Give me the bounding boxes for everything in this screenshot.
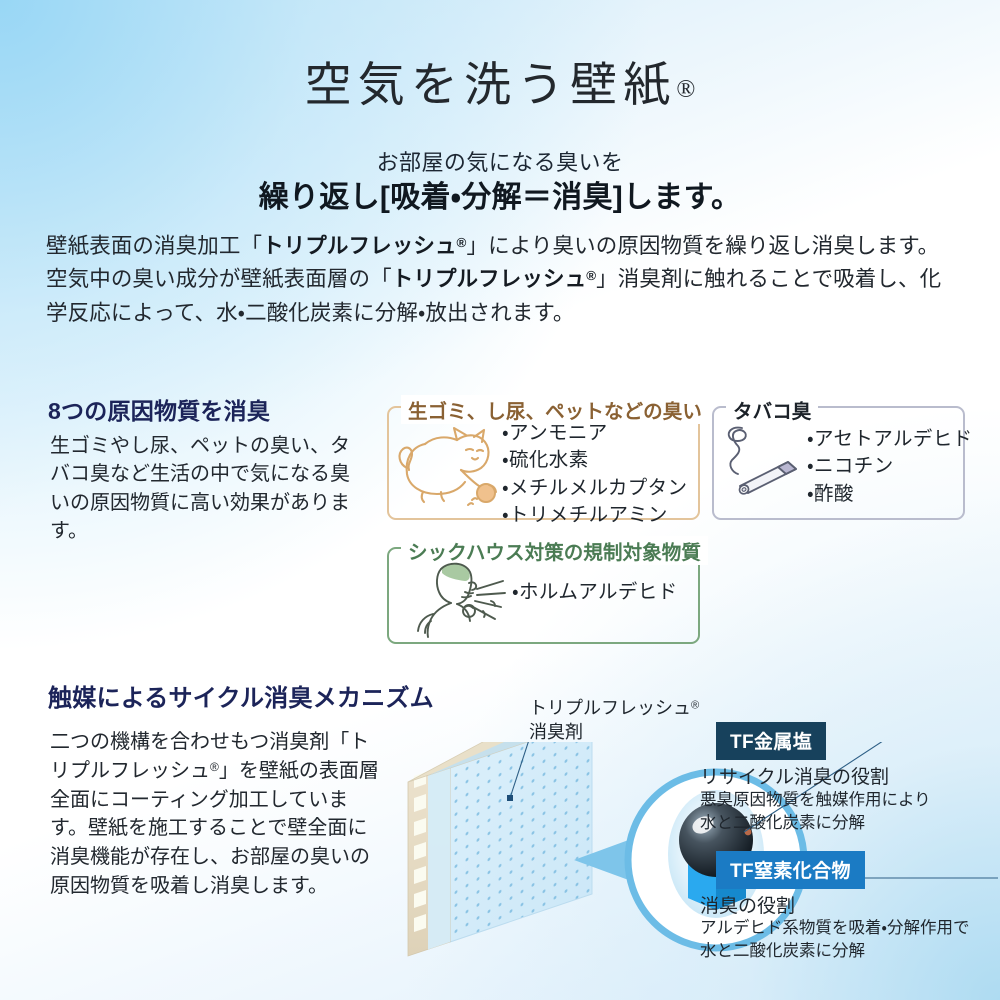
list-item: ・ホルムアルデヒド (512, 579, 678, 606)
mechanism-text-a: 二つの機構を合わせもつ消臭剤「 (50, 731, 349, 753)
page-title-text: 空気を洗う壁紙 (305, 60, 677, 112)
intro-brand-2-text: トリプルフレッシュ (392, 267, 586, 291)
sneezing-person-icon (407, 559, 511, 639)
callout-metal-line1: 悪臭原因物質を触媒作用により (700, 791, 931, 809)
intro-brand-2-reg: ® (586, 268, 596, 283)
list-item: ・アンモニア (502, 420, 687, 447)
odor-box-pet: 生ゴミ、し尿、ペットなどの臭い (387, 406, 700, 520)
intro-brand-2: トリプルフレッシュ® (392, 267, 596, 291)
callout-nitro-line1: アルデヒド系物質を吸着・分解作用で (700, 919, 969, 937)
intro-text-a: 壁紙表面の消臭加工「 (46, 234, 262, 258)
intro-brand-1-text: トリプルフレッシュ (262, 234, 456, 258)
registered-trademark-mark: ® (676, 76, 695, 103)
section-heading-eight-substances: 8つの原因物質を消臭 (48, 392, 270, 426)
mechanism-brand-reg: ® (210, 760, 219, 774)
callout-heading-nitrogen: 消臭の役割 (700, 891, 795, 918)
leader-dot-surface (507, 795, 513, 801)
diagram-label-reg: ® (691, 699, 699, 711)
section-heading-mechanism: 触媒によるサイクル消臭メカニズム (48, 678, 434, 713)
callout-body-metal-salt: 悪臭原因物質を触媒作用により 水と二酸化炭素に分解 (700, 789, 931, 836)
callout-nitro-line2: 水と二酸化炭素に分解 (700, 942, 865, 960)
intro-paragraph: 壁紙表面の消臭加工「トリプルフレッシュ®」により臭いの原因物質を繰り返し消臭しま… (46, 230, 954, 330)
callout-metal-line2: 水と二酸化炭素に分解 (700, 814, 865, 832)
section-body-mechanism: 二つの機構を合わせもつ消臭剤「トリプルフレッシュ®」を壁紙の表面層全面にコーティ… (50, 728, 380, 901)
odor-box-tobacco-items: ・アセトアルデヒド ・ニコチン ・酢酸 (807, 426, 973, 508)
cigarette-icon (720, 422, 808, 504)
list-item: ・硫化水素 (502, 447, 687, 474)
odor-box-tobacco: タバコ臭 ・アセトアルデヒド ・ニコチン ・酢酸 (712, 406, 965, 520)
callout-body-nitrogen: アルデヒド系物質を吸着・分解作用で 水と二酸化炭素に分解 (700, 917, 969, 964)
page-title: 空気を洗う壁紙® (0, 46, 1000, 115)
odor-box-tobacco-legend: タバコ臭 (726, 395, 818, 424)
odor-box-sickhouse-items: ・ホルムアルデヒド (512, 579, 678, 606)
list-item: ・メチルメルカプタン (502, 475, 687, 502)
list-item: ・ニコチン (807, 453, 973, 480)
intro-brand-1: トリプルフレッシュ® (262, 234, 466, 258)
callout-heading-metal-salt: リサイクル消臭の役割 (700, 762, 889, 789)
subtitle-large: 繰り返し[吸着・分解＝消臭]します。 (0, 172, 1000, 216)
diagram-label-line1: トリプルフレッシュ (529, 698, 691, 718)
intro-brand-1-reg: ® (457, 235, 467, 250)
section-body-eight-substances: 生ゴミやし尿、ペットの臭い、タバコ臭など生活の中で気になる臭いの原因物質に高い効… (50, 432, 350, 546)
infographic-page: 空気を洗う壁紙® お部屋の気になる臭いを 繰り返し[吸着・分解＝消臭]します。 … (0, 0, 1000, 1000)
badge-tf-metal-salt: TF金属塩 (716, 722, 826, 760)
odor-box-sickhouse: シックハウス対策の規制対象物質 (387, 547, 700, 644)
list-item: ・アセトアルデヒド (807, 426, 973, 453)
list-item: ・酢酸 (807, 481, 973, 508)
cat-icon (397, 424, 501, 510)
diagram-label-line2: 消臭剤 (529, 722, 583, 742)
odor-box-pet-items: ・アンモニア ・硫化水素 ・メチルメルカプタン ・トリメチルアミン (502, 420, 687, 529)
diagram-label-triple-fresh: トリプルフレッシュ® 消臭剤 (529, 696, 699, 745)
wallpaper-cross-section-icon (408, 742, 592, 956)
list-item: ・トリメチルアミン (502, 502, 687, 529)
badge-tf-nitrogen-compound: TF窒素化合物 (716, 851, 865, 889)
